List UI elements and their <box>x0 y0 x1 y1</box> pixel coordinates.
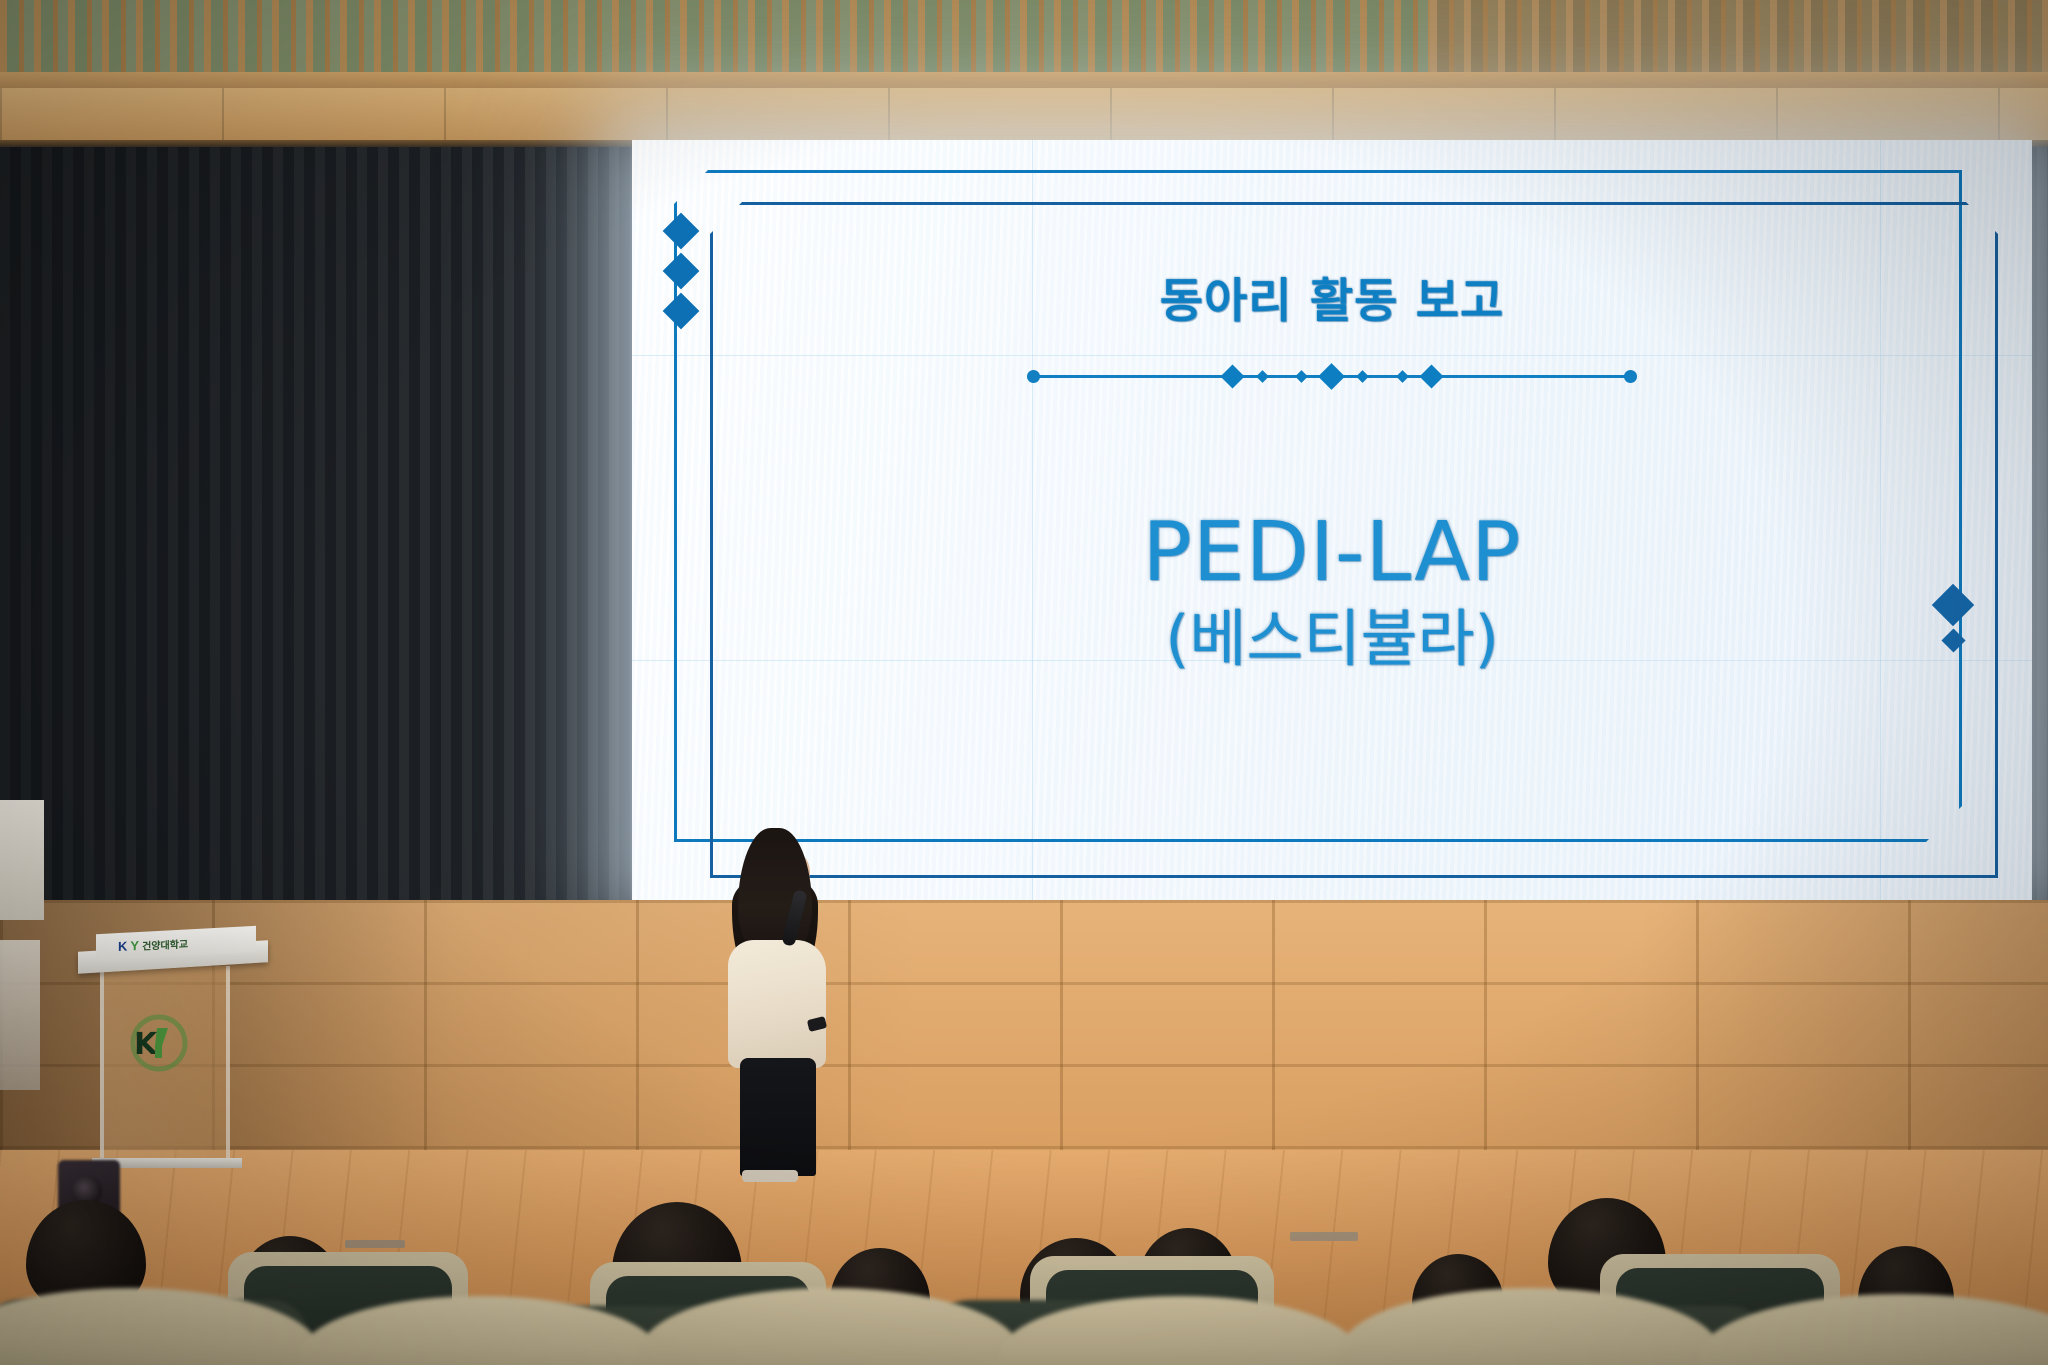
slide-title-block: PEDI-LAP (베스티뷸라) <box>632 512 2032 671</box>
divider-diamond-5 <box>1396 370 1409 383</box>
divider-dot-right <box>1624 370 1637 383</box>
slide-header: 동아리 활동 보고 <box>632 262 2032 389</box>
divider-diamond-3 <box>1295 370 1308 383</box>
divider-diamond-6 <box>1419 364 1443 388</box>
university-logo-y: Y <box>130 937 138 952</box>
presenter-shoes <box>742 1170 798 1182</box>
ceiling-acoustic-slats-right <box>1430 0 2048 78</box>
side-table-lower <box>0 940 40 1090</box>
presenter-sweater <box>728 940 826 1068</box>
university-name-korean: 건양대학교 <box>142 935 188 952</box>
presenter-pants <box>740 1058 816 1176</box>
side-table-upper <box>0 800 44 920</box>
podium-university-logo-icon: K <box>128 1012 190 1074</box>
divider-diamond-4 <box>1356 370 1369 383</box>
upper-wood-band <box>0 88 2048 144</box>
projection-screen: 동아리 활동 보고 PEDI-LAP (베스티뷸라) <box>632 140 2032 900</box>
floor-vent-left <box>345 1240 405 1248</box>
slide-divider <box>1027 363 1637 389</box>
divider-dot-left <box>1027 370 1040 383</box>
slide-title-ko: (베스티뷸라) <box>632 606 2032 671</box>
divider-diamond-1 <box>1220 364 1244 388</box>
auditorium-photo-scene: 동아리 활동 보고 PEDI-LAP (베스티뷸라) <box>0 0 2048 1365</box>
divider-diamond-center <box>1318 363 1345 390</box>
presenter <box>722 828 830 1178</box>
floor-vent-right <box>1290 1232 1358 1241</box>
university-logo-k: K <box>118 938 126 953</box>
divider-diamond-2 <box>1256 370 1269 383</box>
slide-kicker: 동아리 활동 보고 <box>632 262 2032 331</box>
slide-title-en: PEDI-LAP <box>632 512 2032 594</box>
ceiling-beam <box>0 72 2048 88</box>
